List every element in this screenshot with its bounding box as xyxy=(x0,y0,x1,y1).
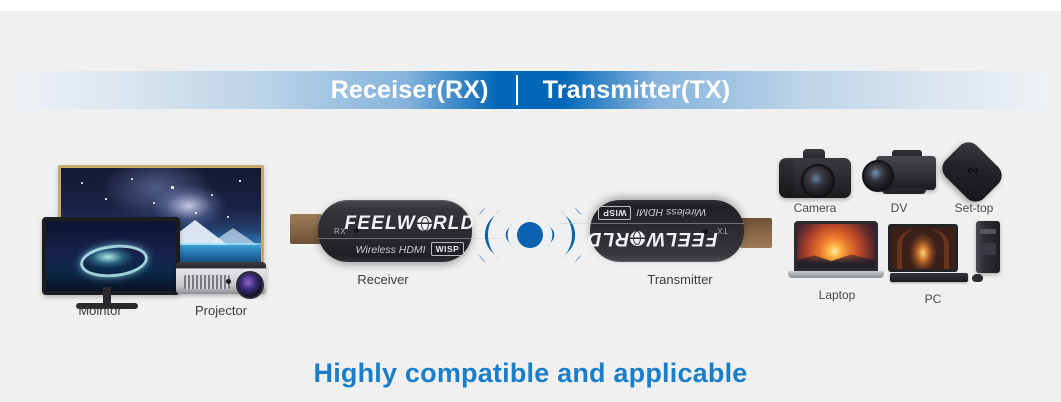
receiver-wisp-badge: WISP xyxy=(431,242,465,256)
laptop-base xyxy=(788,271,884,278)
caption-pc: PC xyxy=(898,292,968,306)
transmitter-port-label: TX xyxy=(717,226,728,235)
transmitter-subtitle: Wireless HDMI xyxy=(636,206,706,218)
transmitter-subtitle-row: Wireless HDMIWISP xyxy=(560,206,744,224)
caption-transmitter: Transmitter xyxy=(600,272,760,287)
projector-lens xyxy=(236,271,264,299)
pc-tower-drive-bay xyxy=(980,229,996,234)
dv-camcorder xyxy=(862,148,936,198)
transmitter-brand-text-tail: RLD xyxy=(586,228,629,249)
camera-grip xyxy=(779,160,793,196)
globe-icon xyxy=(630,231,645,246)
caption-dv: DV xyxy=(859,201,939,215)
pc-mouse xyxy=(972,274,983,282)
laptop xyxy=(788,221,884,283)
laptop-lid xyxy=(794,221,878,271)
banner-label-transmitter: Transmitter(TX) xyxy=(518,71,731,109)
receiver-port-label: RX xyxy=(334,227,346,236)
dv-grip xyxy=(882,188,926,194)
caption-camera: Camera xyxy=(775,201,855,215)
projector-vent xyxy=(184,275,230,289)
receiver-led-indicator xyxy=(354,228,359,233)
pc-tower-panel xyxy=(980,243,996,255)
headline-text: Highly compatible and applicable xyxy=(0,358,1061,389)
caption-projector: Projector xyxy=(166,303,276,318)
caption-receiver: Receiver xyxy=(318,272,448,287)
projector-indicator xyxy=(226,279,231,284)
header-banner-labels: Receiser(RX) Transmitter(TX) xyxy=(0,71,1061,109)
projector-body xyxy=(176,262,266,294)
receiver-subtitle: Wireless HDMI xyxy=(356,244,426,256)
transmitter-hdmi-connector xyxy=(740,218,772,248)
transmitter-device: FEELWRLD Wireless HDMIWISP TX xyxy=(588,200,772,262)
transmitter-led-indicator xyxy=(703,229,708,234)
transmitter-wisp-badge: WISP xyxy=(598,206,632,220)
camera-lens xyxy=(801,164,835,198)
pc-screen xyxy=(891,227,955,269)
banner-label-receiver: Receiser(RX) xyxy=(331,71,516,109)
top-white-strip xyxy=(0,0,1061,11)
pc-monitor xyxy=(888,224,958,272)
monitor-screen xyxy=(42,217,180,295)
dv-lens xyxy=(862,160,894,192)
caption-set-top: Set-top xyxy=(933,201,1015,215)
caption-laptop: Laptop xyxy=(796,288,878,302)
receiver-device: FEELWRLD Wireless HDMIWISP RX xyxy=(290,200,474,262)
infographic-canvas: Receiser(RX) Transmitter(TX) Mointor xyxy=(0,0,1061,402)
receiver-brand-text-tail: RLD xyxy=(433,213,476,234)
set-top-logo-icon: ∾ xyxy=(941,162,1005,179)
pc-keyboard xyxy=(890,273,968,282)
pc-tower xyxy=(976,221,1000,273)
laptop-screen xyxy=(797,224,875,268)
projector xyxy=(176,258,266,296)
globe-icon xyxy=(417,216,432,231)
pc-desktop xyxy=(888,221,1000,287)
set-top-box: ∾ xyxy=(941,148,1005,198)
receiver-subtitle-row: Wireless HDMIWISP xyxy=(318,238,502,256)
camera xyxy=(779,148,851,198)
monitor-neck xyxy=(103,287,111,303)
monitor-scene-arch xyxy=(79,242,150,281)
monitor xyxy=(42,217,172,295)
caption-monitor: Mointor xyxy=(40,303,160,318)
